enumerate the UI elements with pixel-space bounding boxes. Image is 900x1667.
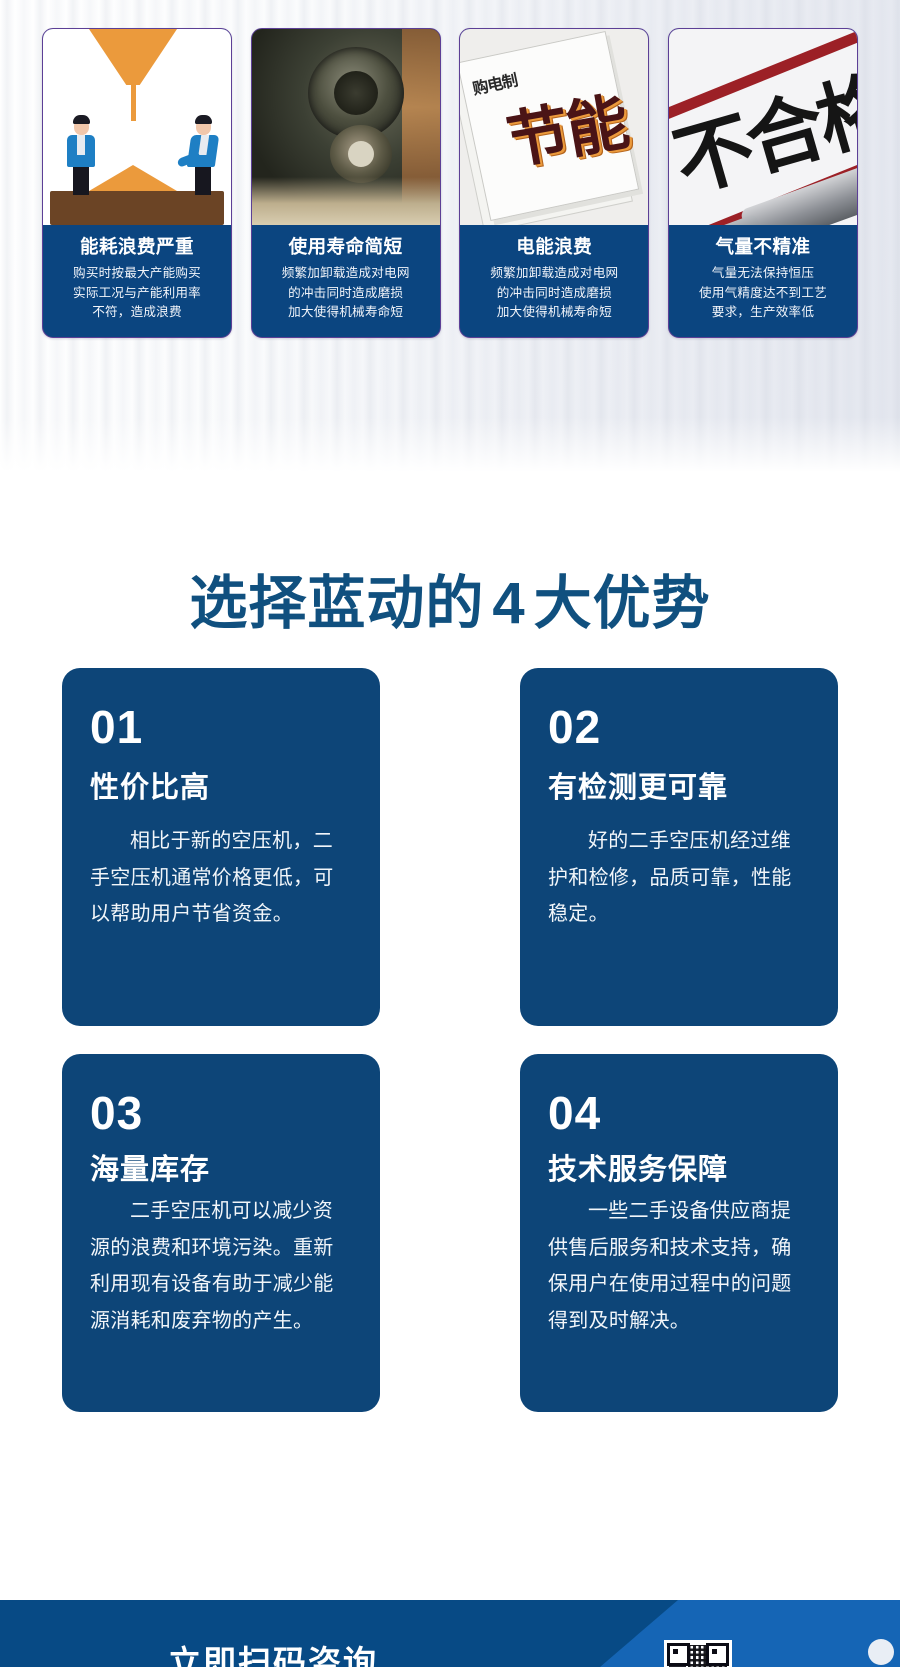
advantage-number: 03 [90,1090,352,1136]
footer-cta-text[interactable]: 立即扫码咨询 [168,1636,378,1667]
footer-bar: 立即扫码咨询 [0,1600,900,1667]
problem-card[interactable]: 购电制 节能 电能浪费 频繁加卸载造成对电网 的冲击同时造成磨损 加大使得机械寿… [459,28,649,338]
problem-section: 能耗浪费严重 购买时按最大产能购买 实际工况与产能利用率 不符，造成浪费 [0,0,900,477]
advantage-title: 性价比高 [90,772,352,805]
problem-card-desc-line: 的冲击同时造成磨损 [467,284,641,304]
problem-card-desc: 气量无法保持恒压 使用气精度达不到工艺 要求，生产效率低 [676,264,850,323]
problem-card[interactable]: 使用寿命简短 频繁加卸载造成对电网 的冲击同时造成磨损 加大使得机械寿命短 [251,28,441,338]
advantage-card-02[interactable]: 02 有检测更可靠 好的二手空压机经过维护和检修，品质可靠，性能稳定。 [520,668,838,1026]
problem-card[interactable]: 不合格 气量不精准 气量无法保持恒压 使用气精度达不到工艺 要求，生产效率低 [668,28,858,338]
page-title-prefix: 选择蓝动的 [189,571,484,636]
problem-card-desc-line: 加大使得机械寿命短 [467,303,641,323]
problem-card-desc-line: 使用气精度达不到工艺 [676,284,850,304]
ground-shape [50,191,224,225]
advantage-title: 海量库存 [90,1154,352,1187]
advantage-card-01[interactable]: 01 性价比高 相比于新的空压机，二手空压机通常价格更低，可以帮助用户节省资金。 [62,668,380,1026]
advantage-card-04[interactable]: 04 技术服务保障 一些二手设备供应商提供售后服务和技术支持，确保用户在使用过程… [520,1054,838,1412]
problem-card-desc: 频繁加卸载造成对电网 的冲击同时造成磨损 加大使得机械寿命短 [467,264,641,323]
problem-card-desc-line: 频繁加卸载造成对电网 [467,264,641,284]
hourglass-bottom-shape [89,165,177,191]
problem-card-desc: 频繁加卸载造成对电网 的冲击同时造成磨损 加大使得机械寿命短 [259,264,433,323]
advantage-title: 有检测更可靠 [548,772,810,805]
problem-card-desc-line: 不符，造成浪费 [50,303,224,323]
page-title: 选择蓝动的4大优势 [0,556,900,640]
problem-card-desc-line: 的冲击同时造成磨损 [259,284,433,304]
qr-finder-top-left [667,1643,690,1666]
hourglass-neck-shape [131,81,136,121]
advantage-number: 01 [90,704,352,750]
advantage-text: 一些二手设备供应商提供售后服务和技术支持，确保用户在使用过程中的问题得到及时解决… [548,1193,810,1339]
problem-card-desc-line: 实际工况与产能利用率 [50,284,224,304]
advantage-text: 二手空压机可以减少资源的浪费和环境污染。重新利用现有设备有助于减少能源消耗和废弃… [90,1193,352,1339]
bearing-ring-small-shape [330,125,392,183]
problem-card-body: 能耗浪费严重 购买时按最大产能购买 实际工况与产能利用率 不符，造成浪费 [43,225,231,337]
problem-card-title: 能耗浪费严重 [50,235,224,258]
debris-shape [252,177,440,225]
advantage-text: 好的二手空压机经过维护和检修，品质可靠，性能稳定。 [548,823,810,932]
advantage-text: 相比于新的空压机，二手空压机通常价格更低，可以帮助用户节省资金。 [90,823,352,932]
footer-diagonal-panel [600,1600,900,1667]
advantage-number: 04 [548,1090,810,1136]
qr-finder-top-right [706,1643,729,1666]
advantage-number: 02 [548,704,810,750]
page-title-suffix: 大优势 [534,571,711,636]
problem-card-desc-line: 频繁加卸载造成对电网 [259,264,433,284]
energy-saving-paper-photo: 购电制 节能 [460,29,648,225]
businessman-right-figure [189,118,217,195]
landing-page: 能耗浪费严重 购买时按最大产能购买 实际工况与产能利用率 不符，造成浪费 [0,0,900,1667]
hourglass-top-shape [77,29,189,85]
problem-card-desc-line: 购买时按最大产能购买 [50,264,224,284]
advantage-card-03[interactable]: 03 海量库存 二手空压机可以减少资源的浪费和环境污染。重新利用现有设备有助于减… [62,1054,380,1412]
footer-badge-icon [868,1639,894,1665]
problem-card-desc: 购买时按最大产能购买 实际工况与产能利用率 不符，造成浪费 [50,264,224,323]
page-title-number: 4 [484,571,533,636]
advantage-title: 技术服务保障 [548,1154,810,1187]
problem-card-desc-line: 加大使得机械寿命短 [259,303,433,323]
problem-card-body: 电能浪费 频繁加卸载造成对电网 的冲击同时造成磨损 加大使得机械寿命短 [460,225,648,337]
problem-card-desc-line: 气量无法保持恒压 [676,264,850,284]
problem-card-title: 使用寿命简短 [259,235,433,258]
advantage-card-grid: 01 性价比高 相比于新的空压机，二手空压机通常价格更低，可以帮助用户节省资金。… [62,668,838,1412]
problem-card-desc-line: 要求，生产效率低 [676,303,850,323]
worn-bearing-photo [252,29,440,225]
unqualified-stamp-photo: 不合格 [669,29,857,225]
problem-card-row: 能耗浪费严重 购买时按最大产能购买 实际工况与产能利用率 不符，造成浪费 [42,28,858,338]
problem-card[interactable]: 能耗浪费严重 购买时按最大产能购买 实际工况与产能利用率 不符，造成浪费 [42,28,232,338]
hourglass-businessmen-illustration [43,29,231,225]
problem-card-title: 电能浪费 [467,235,641,258]
qr-code-icon[interactable] [664,1640,732,1667]
problem-card-body: 使用寿命简短 频繁加卸载造成对电网 的冲击同时造成磨损 加大使得机械寿命短 [252,225,440,337]
businessman-left-figure [67,118,95,195]
problem-card-body: 气量不精准 气量无法保持恒压 使用气精度达不到工艺 要求，生产效率低 [669,225,857,337]
problem-card-title: 气量不精准 [676,235,850,258]
